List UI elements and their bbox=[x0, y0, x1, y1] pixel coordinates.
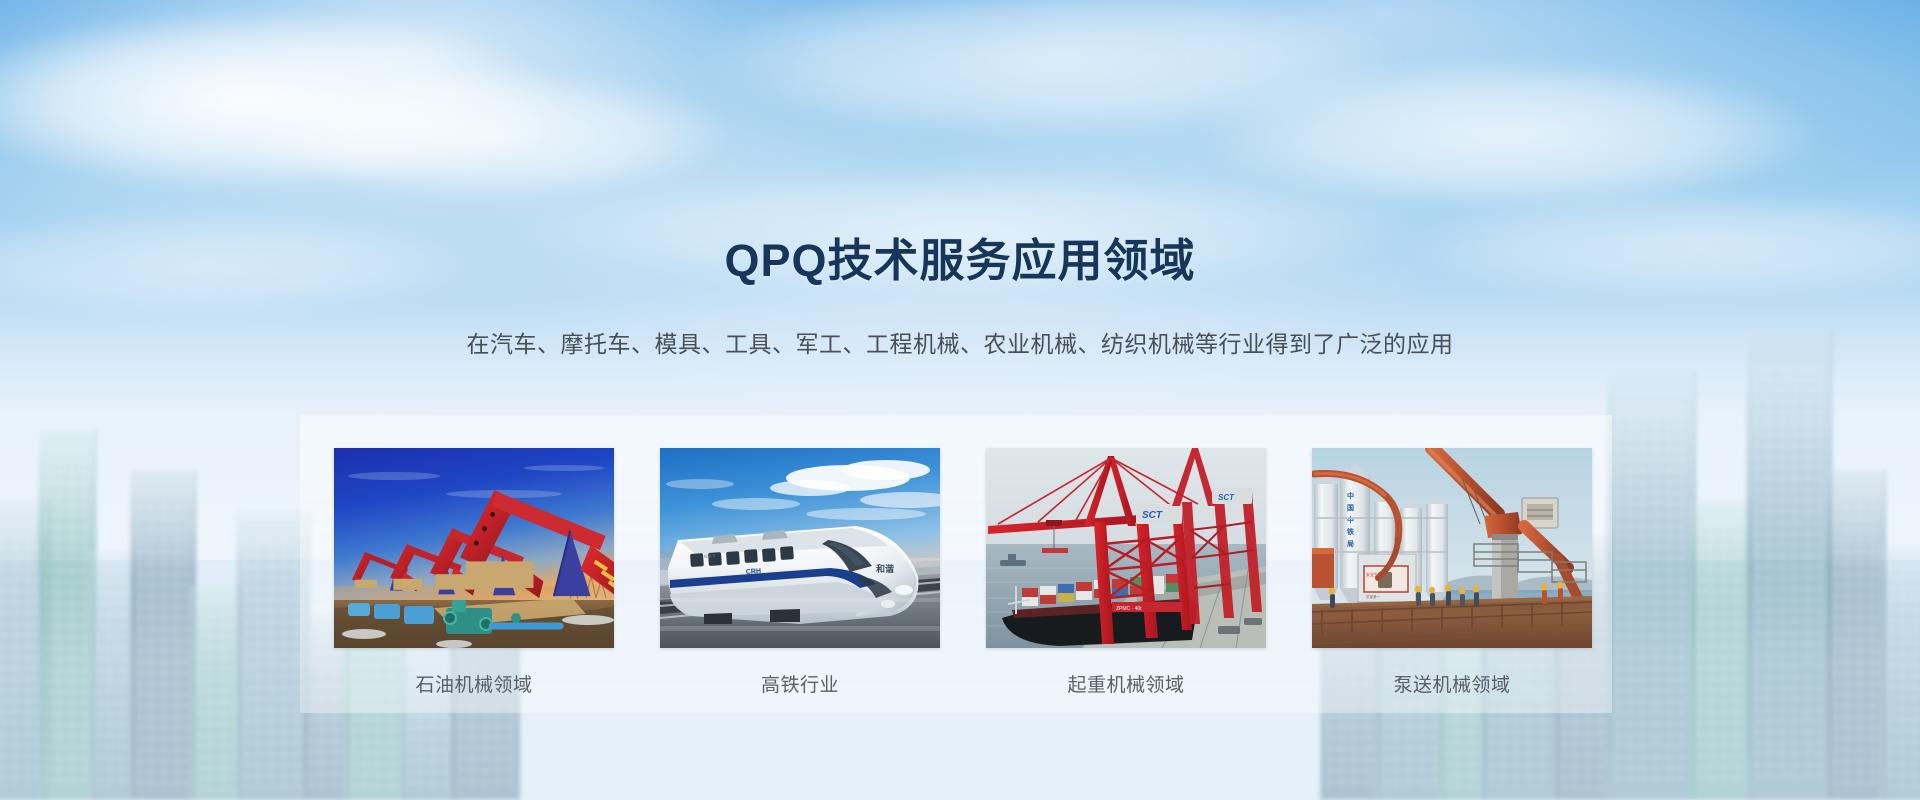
application-card-list: 石油机械领域 bbox=[334, 448, 1578, 697]
svg-text:SCT: SCT bbox=[1142, 510, 1163, 521]
card-caption: 高铁行业 bbox=[660, 670, 940, 697]
svg-text:中: 中 bbox=[1347, 491, 1354, 500]
svg-text:质量第一: 质量第一 bbox=[1366, 594, 1381, 599]
card-caption: 泵送机械领域 bbox=[1312, 670, 1592, 697]
concrete-pump-photo[interactable]: 中国 中铁 局 bbox=[1312, 448, 1592, 648]
page-title: QPQ技术服务应用领域 bbox=[0, 236, 1920, 286]
application-card[interactable]: 石油机械领域 bbox=[334, 448, 614, 697]
page-subtitle: 在汽车、摩托车、模具、工具、军工、工程机械、农业机械、纺织机械等行业得到了广泛的… bbox=[0, 325, 1920, 359]
svg-text:ZPMC · 40t: ZPMC · 40t bbox=[1116, 606, 1142, 612]
port-gantry-cranes-photo[interactable]: SCT ZPMC · 40t bbox=[986, 448, 1266, 648]
oil-pumpjacks-photo[interactable] bbox=[334, 448, 614, 648]
svg-text:SCT: SCT bbox=[1218, 493, 1235, 502]
application-card[interactable]: SCT ZPMC · 40t bbox=[986, 448, 1266, 697]
svg-text:CRH: CRH bbox=[746, 568, 762, 576]
card-caption: 起重机械领域 bbox=[986, 670, 1266, 697]
svg-text:和谐: 和谐 bbox=[875, 563, 894, 574]
application-card[interactable]: 中国 中铁 局 bbox=[1312, 448, 1592, 697]
card-caption: 石油机械领域 bbox=[334, 670, 614, 697]
svg-text:国: 国 bbox=[1347, 503, 1354, 512]
svg-text:局: 局 bbox=[1347, 539, 1354, 548]
svg-text:中: 中 bbox=[1347, 515, 1354, 524]
hero-content: QPQ技术服务应用领域 在汽车、摩托车、模具、工具、军工、工程机械、农业机械、纺… bbox=[0, 0, 1920, 800]
high-speed-train-photo[interactable]: CRH 和谐号 和谐 bbox=[660, 448, 940, 648]
svg-text:铁: 铁 bbox=[1347, 527, 1354, 536]
application-card[interactable]: CRH 和谐号 和谐 高铁行业 bbox=[660, 448, 940, 697]
svg-text:和谐号: 和谐号 bbox=[704, 552, 716, 559]
